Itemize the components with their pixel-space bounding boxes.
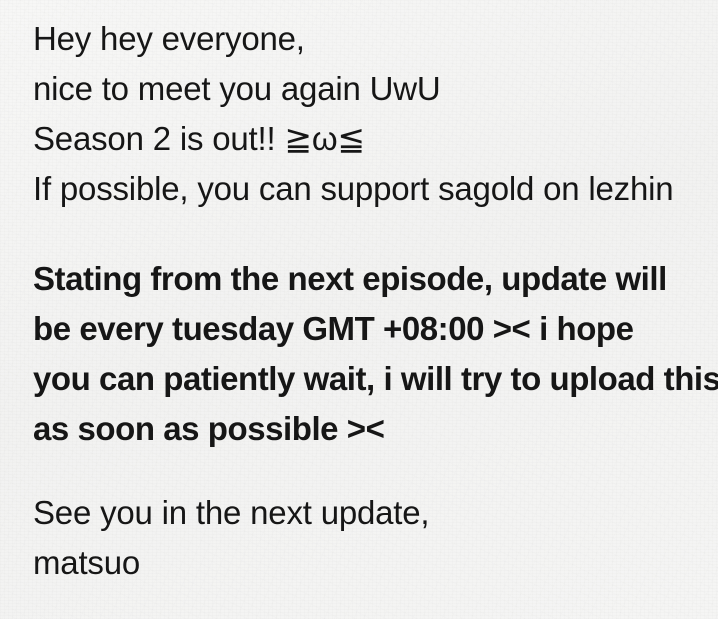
note-line: be every tuesday GMT +08:00 >< i hope bbox=[33, 304, 712, 354]
paragraph-spacer bbox=[33, 454, 712, 488]
note-line: Stating from the next episode, update wi… bbox=[33, 254, 712, 304]
note-line: you can patiently wait, i will try to up… bbox=[33, 354, 712, 404]
paragraph-spacer bbox=[33, 214, 712, 254]
note-line: as soon as possible >< bbox=[33, 404, 712, 454]
note-line: nice to meet you again UwU bbox=[33, 64, 712, 114]
paragraph-schedule-announcement: Stating from the next episode, update wi… bbox=[33, 254, 712, 454]
paper-note-background: Hey hey everyone, nice to meet you again… bbox=[0, 0, 718, 619]
paragraph-signoff: See you in the next update, matsuo bbox=[33, 488, 712, 588]
note-line: See you in the next update, bbox=[33, 488, 712, 538]
signature-line: matsuo bbox=[33, 538, 712, 588]
note-text-body: Hey hey everyone, nice to meet you again… bbox=[33, 14, 712, 588]
note-line: If possible, you can support sagold on l… bbox=[33, 164, 712, 214]
note-line: Hey hey everyone, bbox=[33, 14, 712, 64]
paragraph-greeting: Hey hey everyone, nice to meet you again… bbox=[33, 14, 712, 214]
note-line: Season 2 is out!! ≧ω≦ bbox=[33, 114, 712, 164]
